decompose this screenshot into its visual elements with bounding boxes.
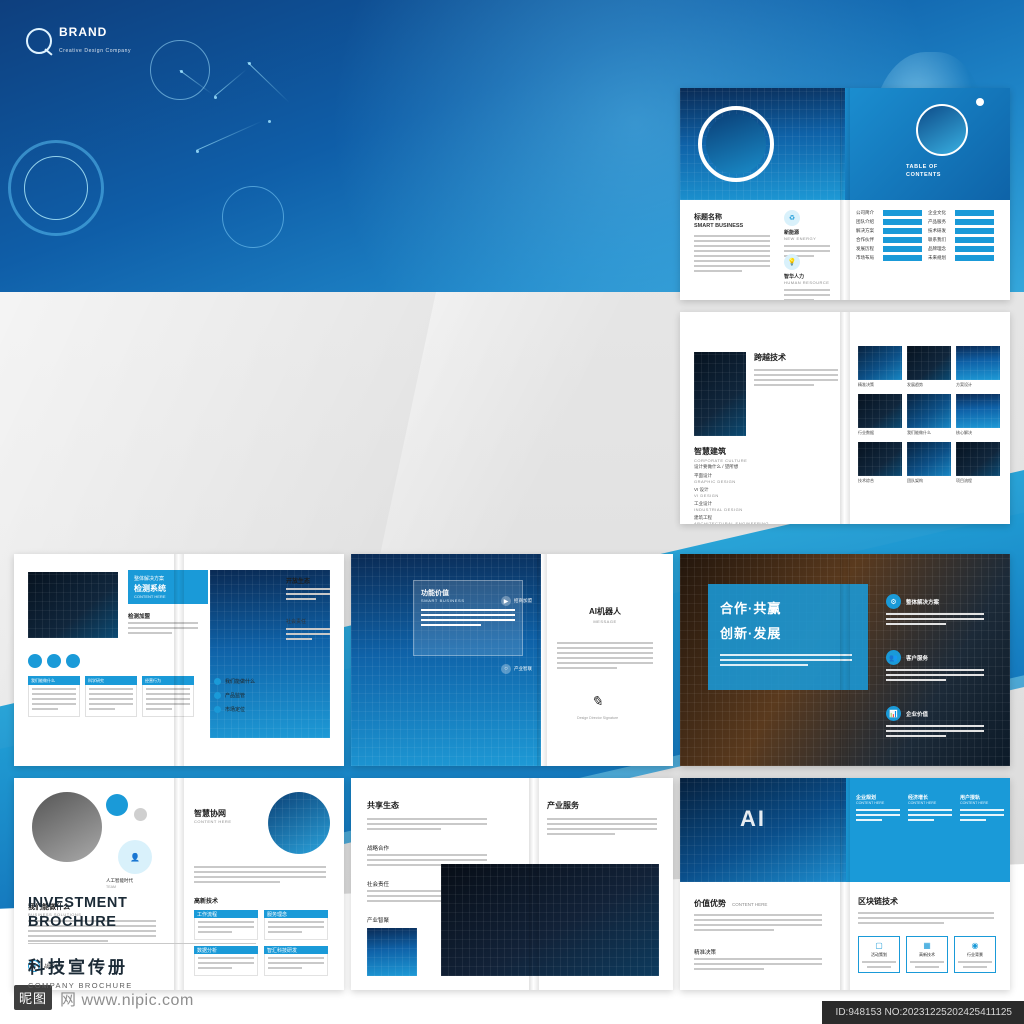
network-line bbox=[214, 69, 247, 97]
spread-ai-robot: 功能价值 SMART BUSINESS ▶ 招商加盟 ○ 产业智联 AI机器人 … bbox=[351, 554, 673, 766]
toc-item[interactable]: 未来规划 bbox=[928, 255, 994, 261]
block-left-lines bbox=[694, 914, 822, 934]
toc-brand-en: SMART BUSINESS bbox=[694, 223, 772, 229]
chart-icon: 📊 bbox=[886, 706, 901, 721]
toc-dot-icon bbox=[976, 98, 984, 106]
detect-bullet-list: 我们能做什么 产品监管 市场定位 bbox=[214, 678, 334, 713]
brand-name: BRAND bbox=[59, 26, 131, 39]
detect-left-lines bbox=[128, 622, 198, 637]
block-hero-word: AI bbox=[740, 806, 766, 832]
ai-right-heading: AI机器人 MESSAGE bbox=[563, 606, 647, 624]
toc-item[interactable]: 市场布局 bbox=[856, 255, 922, 261]
detect-panel: 整体解决方案 检测系统 CONTENT HERE bbox=[128, 570, 208, 604]
detect-circle-icon bbox=[66, 654, 80, 668]
toc-item-bar bbox=[955, 228, 994, 234]
tech-grid-photo bbox=[858, 442, 902, 476]
chip-icon: ▦ bbox=[910, 941, 944, 950]
detect-card[interactable]: 我们能做什么 bbox=[28, 676, 80, 717]
eco-label-0: 战略合作 bbox=[367, 844, 389, 852]
detect-right-label-1: 社会责任 bbox=[286, 618, 306, 625]
block-left-heading: 价值优势 CONTENT HERE bbox=[694, 898, 767, 909]
toc-item-bar bbox=[883, 255, 922, 261]
spread-gutter bbox=[529, 778, 539, 990]
ai-side-item-1: ▶ 招商加盟 bbox=[501, 596, 532, 606]
toc-item[interactable]: 品牌理念 bbox=[928, 246, 994, 252]
win-item: ⚙ 整体解决方案 bbox=[886, 594, 984, 628]
block-right-title: 区块链技术 bbox=[858, 896, 898, 907]
tech-sub-item: 设计要做什么 / 望所想 bbox=[694, 464, 834, 470]
toc-brand-block: 标题名称 SMART BUSINESS bbox=[694, 212, 772, 275]
detect-circle-icon bbox=[28, 654, 42, 668]
tech-grid-cell: 核心解决 bbox=[956, 394, 1000, 436]
cover-logo: BRAND Creative Design Company bbox=[26, 26, 131, 57]
win-item: 👥 客户服务 bbox=[886, 650, 984, 684]
tech-grid-cell: 技术综合 bbox=[858, 442, 902, 484]
detect-bullet-item: 我们能做什么 bbox=[214, 678, 334, 685]
detect-left-label-0: 检测加盟 bbox=[128, 612, 150, 620]
tech-grid-photo bbox=[956, 394, 1000, 428]
eco-right-lines bbox=[547, 818, 657, 838]
eco-label-1: 社会责任 bbox=[367, 880, 389, 888]
detect-circle-icon bbox=[47, 654, 61, 668]
spread-table-of-contents: TABLE OF CONTENTS 标题名称 SMART BUSINESS ♻ … bbox=[680, 88, 1010, 300]
eco-small-photo bbox=[367, 928, 417, 976]
toc-item-bar bbox=[883, 246, 922, 252]
network-line bbox=[247, 62, 289, 103]
block-card[interactable]: ▦ 高新技术 bbox=[906, 936, 948, 973]
toc-feature-2-en: HUMAN RESOURCE bbox=[784, 280, 830, 285]
toc-item-bar bbox=[883, 219, 922, 225]
gear-icon: ⚙ bbox=[886, 594, 901, 609]
tech-grid-cell: 我们能做什么 bbox=[907, 394, 951, 436]
detect-bullet-item: 市场定位 bbox=[214, 706, 334, 713]
toc-item[interactable]: 产品服务 bbox=[928, 219, 994, 225]
net-right-circle-photo bbox=[268, 792, 330, 854]
toc-circle-image bbox=[706, 114, 766, 174]
ai-side-item-2: ○ 产业智联 bbox=[501, 664, 532, 674]
brand-tagline: Creative Design Company bbox=[59, 48, 131, 54]
block-card-row[interactable]: ▢ 活动策划 ▦ 高新技术 ◉ 行业背景 bbox=[858, 936, 996, 973]
signature-note: Design Director Signature bbox=[577, 716, 618, 720]
user-icon: 👤 bbox=[130, 853, 140, 862]
decor-ring-4 bbox=[222, 186, 284, 248]
tech-grid-cell: 项目流程 bbox=[956, 442, 1000, 484]
net-dot-mid bbox=[134, 808, 147, 821]
eco-title-left: 共享生态 bbox=[367, 800, 399, 811]
spread-gutter bbox=[840, 312, 850, 524]
eco-label-2: 产业智聚 bbox=[367, 916, 389, 924]
chat-icon: ○ bbox=[501, 664, 511, 674]
ai-right-lines bbox=[557, 642, 653, 672]
toc-item[interactable]: 企业文化 bbox=[928, 210, 994, 216]
toc-item[interactable]: 技术研发 bbox=[928, 228, 994, 234]
toc-item-bar bbox=[883, 237, 922, 243]
net-right-lines bbox=[194, 866, 326, 886]
tech-photo-grid: 精准决策 发展趋势 方案设计 行业数据 我们能做什么 核心解决 技术综合 团队架… bbox=[858, 346, 1000, 484]
detect-bullet-item: 产品监管 bbox=[214, 692, 334, 699]
ai-glass-panel: 功能价值 SMART BUSINESS bbox=[413, 580, 523, 656]
net-chip[interactable]: 服务理念 bbox=[264, 910, 328, 940]
tech-grid-photo bbox=[956, 442, 1000, 476]
eco-title-right: 产业服务 bbox=[547, 800, 579, 811]
net-chip[interactable]: 智汇科技研发 bbox=[264, 946, 328, 976]
toc-item-bar bbox=[883, 228, 922, 234]
tech-side-photo bbox=[694, 352, 746, 436]
detect-card[interactable]: 经营行为 bbox=[142, 676, 194, 717]
toc-heading-line2: CONTENTS bbox=[906, 172, 941, 178]
toc-list[interactable]: 公司简介 企业文化 团队介绍 产品服务 解决方案 技术研发 合作伙伴 联系我们 … bbox=[856, 210, 998, 261]
detect-circle-row bbox=[28, 654, 80, 668]
spread-shared-ecosystem: 共享生态 战略合作 社会责任 产业智聚 产业服务 bbox=[351, 778, 673, 990]
net-bubble-label: 人工智能时代 bbox=[106, 878, 133, 884]
spread-gutter bbox=[174, 554, 184, 766]
toc-item-bar bbox=[955, 255, 994, 261]
net-bubble-sub: TEAM bbox=[106, 885, 116, 889]
toc-brand-cn: 标题名称 bbox=[694, 212, 772, 222]
recycle-icon: ♻ bbox=[784, 210, 800, 226]
spread-gutter bbox=[537, 554, 547, 766]
users-icon: 👥 bbox=[886, 650, 901, 665]
bullet-icon bbox=[214, 706, 221, 713]
block-card[interactable]: ▢ 活动策划 bbox=[858, 936, 900, 973]
toc-item[interactable]: 联系我们 bbox=[928, 237, 994, 243]
spread-detection-system: 整体解决方案 检测系统 CONTENT HERE 检测加盟 我们能做什么 科学研… bbox=[14, 554, 344, 766]
block-top-item: 用户接轨 CONTENT HERE bbox=[960, 794, 1004, 824]
toc-feature-2: 💡 智华人力 HUMAN RESOURCE bbox=[784, 254, 830, 300]
detect-photo-1 bbox=[28, 572, 118, 638]
network-dot bbox=[268, 120, 271, 123]
bulb-icon: 💡 bbox=[784, 254, 800, 270]
spread-blockchain: AI 企业规划 CONTENT HERE 经济增长 CONTENT HERE 用… bbox=[680, 778, 1010, 990]
spread-gutter bbox=[840, 554, 850, 766]
tech-title-2: 智慧建筑 CORPORATE CULTURE bbox=[694, 446, 747, 463]
toc-feature-1: ♻ 新能源 NEW ENERGY bbox=[784, 210, 830, 260]
tech-title-1: 跨越技术 bbox=[754, 352, 838, 389]
tech-grid-photo bbox=[858, 394, 902, 428]
toc-item[interactable]: 发展历程 bbox=[856, 246, 922, 252]
toc-heading-line1: TABLE OF bbox=[906, 164, 938, 170]
tech-grid-cell: 发展趋势 bbox=[907, 346, 951, 388]
detect-right-lines bbox=[286, 588, 330, 603]
detect-card-row[interactable]: 我们能做什么 科学研究 经营行为 bbox=[28, 676, 194, 717]
send-icon: ▶ bbox=[501, 596, 511, 606]
asset-id-label: ID:948153 NO:20231225202425411125 bbox=[822, 1001, 1024, 1024]
globe-icon: ◉ bbox=[958, 941, 992, 950]
toc-item[interactable]: 公司简介 bbox=[856, 210, 922, 216]
win-item: 📊 企业价值 bbox=[886, 706, 984, 740]
tech-grid-cell: 行业数据 bbox=[858, 394, 902, 436]
block-left-label: 精准决策 bbox=[694, 948, 716, 956]
bullet-icon bbox=[214, 678, 221, 685]
net-right-heading: 智慧协网 CONTENT HERE bbox=[194, 808, 231, 824]
decor-ring-2 bbox=[24, 156, 88, 220]
block-card[interactable]: ◉ 行业背景 bbox=[954, 936, 996, 973]
net-dot-large bbox=[106, 794, 128, 816]
spread-gutter bbox=[840, 778, 850, 990]
tech-sub-items: 设计要做什么 / 望所想 平面设计 GRAPHIC DESIGN VI 设计 V… bbox=[694, 464, 834, 524]
detect-right-title: 开放生态 bbox=[286, 576, 310, 585]
brand-circle-icon bbox=[26, 28, 52, 54]
toc-item-bar bbox=[955, 246, 994, 252]
bullet-icon bbox=[214, 692, 221, 699]
tech-grid-photo bbox=[907, 394, 951, 428]
eco-main-photo bbox=[441, 864, 659, 976]
toc-feature-2-cn: 智华人力 bbox=[784, 273, 830, 280]
net-circle-photo bbox=[32, 792, 102, 862]
net-bubble: 👤 bbox=[118, 840, 152, 874]
spread-technology: 跨越技术 智慧建筑 CORPORATE CULTURE 设计要做什么 / 望所想… bbox=[680, 312, 1010, 524]
tech-grid-cell: 团队架构 bbox=[907, 442, 951, 484]
block-top-item: 经济增长 CONTENT HERE bbox=[908, 794, 952, 824]
tech-grid-photo bbox=[956, 346, 1000, 380]
tech-grid-photo bbox=[858, 346, 902, 380]
toc-item-bar bbox=[955, 237, 994, 243]
spread-gutter bbox=[840, 88, 850, 300]
toc-item-bar bbox=[883, 210, 922, 216]
network-line bbox=[196, 121, 262, 151]
tech-grid-cell: 方案设计 bbox=[956, 346, 1000, 388]
tech-grid-photo bbox=[907, 442, 951, 476]
tech-grid-cell: 精准决策 bbox=[858, 346, 902, 388]
toc-feature-1-cn: 新能源 bbox=[784, 229, 830, 236]
block-top-item: 企业规划 CONTENT HERE bbox=[856, 794, 900, 824]
detect-card[interactable]: 科学研究 bbox=[85, 676, 137, 717]
signature-mark: ✎ bbox=[591, 694, 603, 711]
toc-item-bar bbox=[955, 219, 994, 225]
toc-item[interactable]: 解决方案 bbox=[856, 228, 922, 234]
calendar-icon: ▢ bbox=[862, 941, 896, 950]
toc-item-bar bbox=[955, 210, 994, 216]
toc-circle-image-2 bbox=[916, 104, 968, 156]
block-top-items: 企业规划 CONTENT HERE 经济增长 CONTENT HERE 用户接轨… bbox=[856, 794, 1004, 824]
spread-cooperation: 合作·共赢 创新·发展 ⚙ 整体解决方案 👥 客户服务 📊 企业价值 bbox=[680, 554, 1010, 766]
eco-left-lines bbox=[367, 818, 487, 833]
toc-item[interactable]: 团队介绍 bbox=[856, 219, 922, 225]
toc-feature-1-en: NEW ENERGY bbox=[784, 236, 830, 241]
toc-item[interactable]: 合作伙伴 bbox=[856, 237, 922, 243]
tech-grid-photo bbox=[907, 346, 951, 380]
